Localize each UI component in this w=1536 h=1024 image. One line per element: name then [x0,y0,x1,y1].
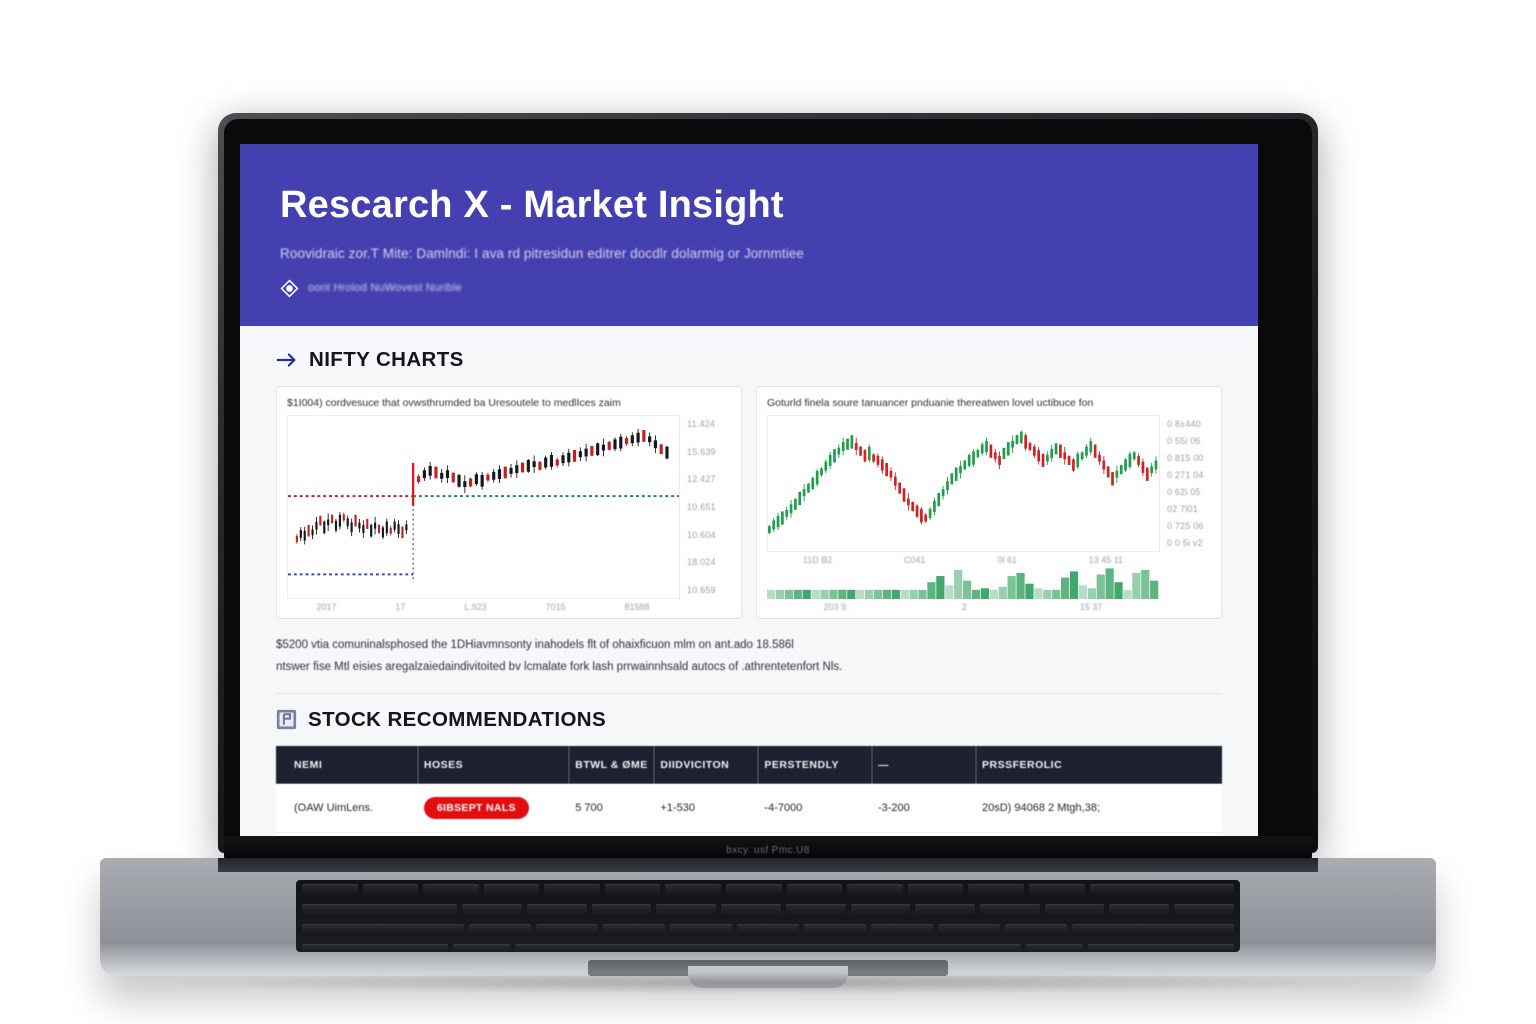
column-header-name[interactable]: NEMI [276,746,418,784]
key[interactable] [787,884,843,896]
y-tick: 11.424 [687,419,733,429]
laptop-hinge [218,858,1318,872]
key[interactable] [423,884,479,896]
key[interactable] [462,904,522,916]
arrow-right-icon [276,352,298,368]
keyboard-row [296,900,1240,920]
key[interactable] [656,904,716,916]
key[interactable] [484,884,540,896]
left-chart-y-axis: 11.424 15.639 12.427 10.651 10.604 18.02… [679,415,733,599]
key[interactable] [737,924,799,936]
y-tick: 18.024 [687,557,733,567]
recommendations-section-header: STOCK RECOMMENDATIONS [276,708,1222,732]
y-tick: 10.604 [687,530,733,540]
key[interactable] [908,884,964,896]
page-subtitle: Roovidraic zor.T Mite: Damlndi: I ava rd… [280,246,1218,261]
column-header-price[interactable]: BTWL & ØME [569,746,654,784]
gem-icon [280,279,299,298]
key[interactable] [605,884,661,896]
key[interactable] [1088,944,1234,952]
y-tick: 0 55i 06 [1167,436,1213,446]
laptop-shadow [150,972,1390,994]
y-tick: 0 271 04 [1167,470,1213,480]
chart-card-right[interactable]: Goturld finela soure tanuancer pnduanie … [756,386,1222,619]
key[interactable] [980,904,1040,916]
y-tick: 15.639 [687,447,733,457]
column-header-potential[interactable]: PERSTENDLY [758,746,872,784]
cell-extra: -3-200 [872,784,976,833]
status-badge[interactable]: 6IBSEPT NALS [424,797,529,819]
left-chart-candles [288,416,679,582]
page-header-banner: Rescarch X - Market Insight Roovidraic z… [240,144,1258,326]
left-chart-caption: $1I004) cordvesuce that ovwsthrumded ba … [287,397,733,409]
key[interactable] [1026,944,1082,952]
page-title: Rescarch X - Market Insight [280,186,1218,226]
section-divider [276,693,1222,694]
x-tick: 2 [962,602,967,612]
charts-section-header: NIFTY CHARTS [276,348,1222,372]
key[interactable] [871,924,933,936]
screenshot-stage: Rescarch X - Market Insight Roovidraic z… [0,0,1536,1024]
table-row[interactable]: (OAW UimLens. 6IBSEPT NALS 5 700 +1-530 … [276,784,1222,833]
key[interactable] [804,924,866,936]
key[interactable] [453,944,509,952]
right-chart-x-axis: 11D B2 C041 0l 61 13 45 11 [767,552,1213,565]
x-tick: 15 37 [1080,602,1103,612]
key[interactable] [536,924,598,936]
key[interactable] [1005,924,1067,936]
recommendations-section-title: STOCK RECOMMENDATIONS [308,708,606,732]
key[interactable] [1109,904,1169,916]
cell-prediction: +1-530 [654,784,758,833]
keyboard-row [296,880,1240,900]
header-meta-text: oont Hrolod NuWovest Nurible [308,282,462,294]
page-content: NIFTY CHARTS $1I004) cordvesuce that ovw… [240,326,1258,836]
right-chart-plot [767,415,1159,552]
key[interactable] [469,924,531,936]
charts-row: $1I004) cordvesuce that ovwsthrumded ba … [276,386,1222,619]
recommendations-table: NEMI HOSES BTWL & ØME DIIDVICITON PERSTE… [276,746,1222,836]
x-tick: C041 [904,555,926,565]
y-tick: 0 62i 05 [1167,487,1213,497]
key[interactable] [302,944,448,952]
cell-price: 5 700 [569,784,654,833]
cell-profile: 20sD) 94068 2 Mtgh,38; [976,784,1222,833]
key[interactable] [847,884,903,896]
key[interactable] [363,884,419,896]
key[interactable] [670,924,732,936]
key[interactable] [938,924,1000,936]
column-header-dash[interactable]: — [872,746,976,784]
y-tick: 0 815 00 [1167,453,1213,463]
y-tick: 0 0 5i v2 [1167,538,1213,548]
y-tick: 02 7l01 [1167,504,1213,514]
key[interactable] [302,884,358,896]
table-header-row: NEMI HOSES BTWL & ØME DIIDVICITON PERSTE… [276,746,1222,784]
y-tick: 0 8±440 [1167,419,1213,429]
x-tick: 81588 [624,602,649,612]
laptop-keyboard[interactable] [296,880,1240,952]
key[interactable] [544,884,600,896]
right-chart-caption: Goturld finela soure tanuancer pnduanie … [767,397,1213,409]
volume-bars [767,565,1159,599]
right-chart-volume-x-axis: 203 9. 2 15 37 [767,599,1213,612]
right-chart-y-axis: 0 8±440 0 55i 06 0 815 00 0 271 04 0 62i… [1159,415,1213,552]
flag-square-icon [276,709,297,730]
recommendations-table-wrap: NEMI HOSES BTWL & ØME DIIDVICITON PERSTE… [276,746,1222,836]
charts-section-title: NIFTY CHARTS [309,348,464,372]
x-tick: 13 45 11 [1089,555,1123,565]
x-tick: 2017 [316,602,336,612]
column-header-profile[interactable]: PRSSFEROLIC [976,746,1222,784]
spacebar-key[interactable] [515,944,1022,952]
laptop-brand-label: bxcy. usf Pmc.U8 [726,845,809,856]
header-meta-row: oont Hrolod NuWovest Nurible [280,279,1218,298]
x-tick: L.923 [464,602,487,612]
keyboard-row [296,920,1240,940]
left-chart-x-axis: 2017 17 L.923 7015 81588 [287,599,733,612]
left-chart-plot [287,415,679,599]
cell-name: (OAW UimLens. [276,784,418,833]
key[interactable] [851,904,911,916]
y-tick: 0 725 06 [1167,521,1213,531]
key[interactable] [592,904,652,916]
key[interactable] [1072,924,1234,936]
description-line: ntswer fise Mtl eisies aregalzaiedaindiv… [276,657,1222,679]
key[interactable] [603,924,665,936]
y-tick: 12.427 [687,474,733,484]
column-header-signal[interactable]: HOSES [418,746,569,784]
key[interactable] [786,904,846,916]
charts-description: $5200 vtia comuninalsphosed the 1DHiavmn… [276,635,1222,679]
key[interactable] [302,924,464,936]
key[interactable] [915,904,975,916]
key[interactable] [726,884,782,896]
right-chart-volume-panel [767,565,1159,599]
x-tick: 0l 61 [997,555,1017,565]
laptop-screen: Rescarch X - Market Insight Roovidraic z… [240,144,1258,836]
key[interactable] [721,904,781,916]
left-chart-body: 11.424 15.639 12.427 10.651 10.604 18.02… [287,415,733,599]
key[interactable] [968,884,1024,896]
x-tick: 11D B2 [803,555,832,565]
x-tick: 17 [395,602,405,612]
key[interactable] [302,904,457,916]
cell-potential: -4-7000 [758,784,872,833]
y-tick: 10.659 [687,585,733,595]
key[interactable] [1090,884,1235,896]
key[interactable] [1029,884,1085,896]
right-chart-candles [768,416,1159,553]
chart-card-left[interactable]: $1I004) cordvesuce that ovwsthrumded ba … [276,386,742,619]
key[interactable] [527,904,587,916]
key[interactable] [1045,904,1105,916]
keyboard-row [296,940,1240,952]
key[interactable] [1174,904,1234,916]
cell-badge: 6IBSEPT NALS [418,784,569,833]
x-tick: 7015 [546,602,566,612]
column-header-prediction[interactable]: DIIDVICITON [654,746,758,784]
y-tick: 10.651 [687,502,733,512]
x-tick: 203 9. [824,602,849,612]
right-chart-body: 0 8±440 0 55i 06 0 815 00 0 271 04 0 62i… [767,415,1213,552]
description-line: $5200 vtia comuninalsphosed the 1DHiavmn… [276,635,1222,657]
key[interactable] [665,884,721,896]
